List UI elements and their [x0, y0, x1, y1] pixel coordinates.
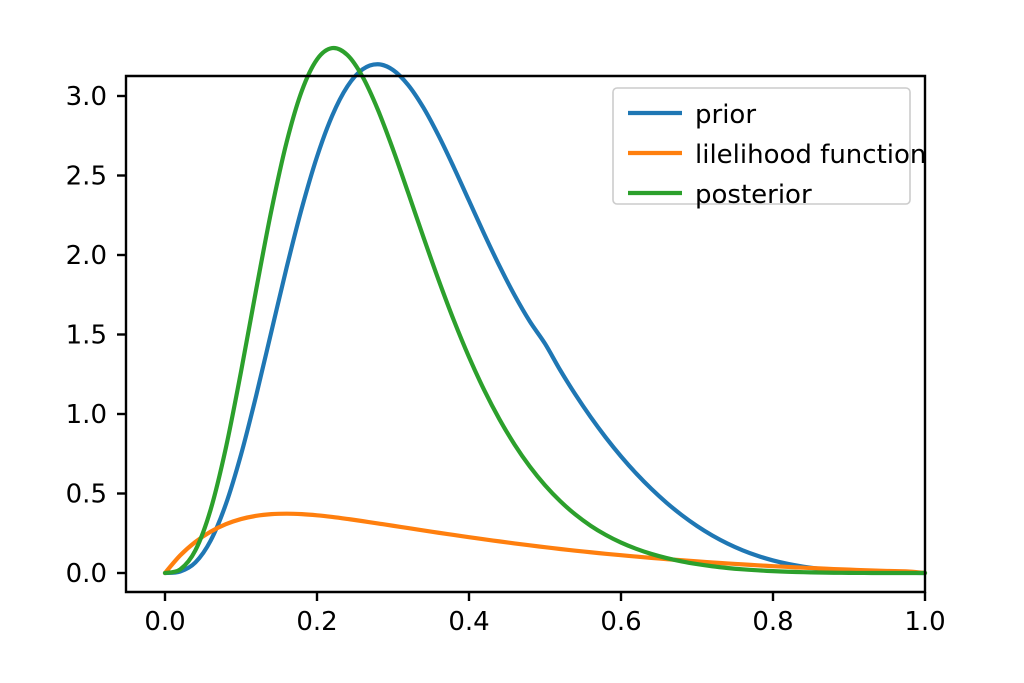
x-tick-label: 0.0 [144, 607, 185, 637]
x-tick-label: 0.6 [600, 607, 641, 637]
y-tick-label: 1.0 [66, 400, 107, 430]
y-tick-label: 1.5 [66, 321, 107, 351]
y-tick-label: 0.5 [66, 480, 107, 510]
legend-label-lilelihood-function: lilelihood function [695, 140, 926, 170]
x-tick-label: 0.8 [752, 607, 793, 637]
legend[interactable]: priorlilelihood functionposterior [613, 88, 926, 210]
x-tick-label: 0.2 [296, 607, 337, 637]
y-tick-label: 0.0 [66, 559, 107, 589]
legend-label-prior: prior [695, 100, 756, 130]
x-tick-label: 0.4 [448, 607, 489, 637]
matplotlib-figure: 0.00.20.40.60.81.0 0.00.51.01.52.02.53.0… [0, 0, 1024, 683]
y-tick-label: 2.0 [66, 241, 107, 271]
y-tick-label: 3.0 [66, 82, 107, 112]
x-tick-label: 1.0 [904, 607, 945, 637]
legend-label-posterior: posterior [695, 180, 812, 210]
plot-canvas: 0.00.20.40.60.81.0 0.00.51.01.52.02.53.0… [0, 0, 1024, 683]
y-tick-label: 2.5 [66, 162, 107, 192]
